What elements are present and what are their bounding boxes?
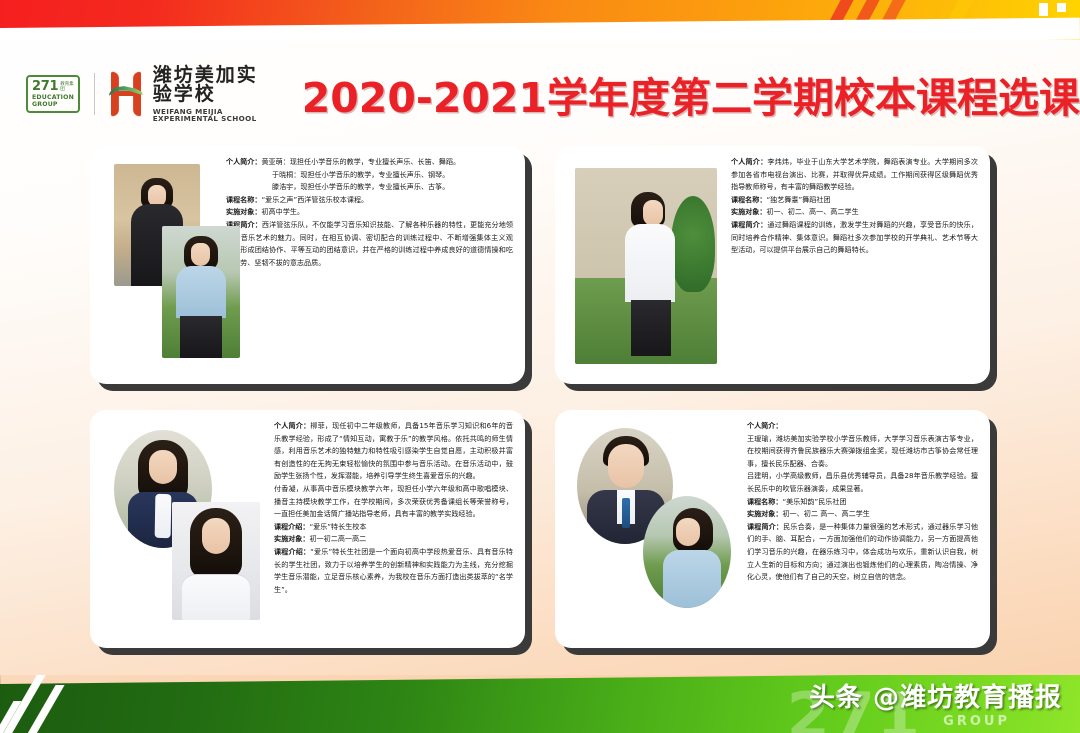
card-1-text: 个人简介：黄亚萌：现担任小学音乐的教学，专业擅长声乐、长笛、舞蹈。 于晓桐：现担…: [220, 156, 513, 374]
poster-header: 271 教育集团 EDUCATION GROUP 潍坊美加实验学校 WEIFAN…: [0, 58, 1080, 130]
card-3-course-name-value: “爱乐”特长生校本: [309, 522, 366, 531]
card-2-course-name-value: “独艺舞耋”舞蹈社团: [766, 195, 830, 204]
card-1-course-name-row: 课程名称：“爱乐之声”西洋管弦乐校本课程。: [226, 194, 513, 207]
logo-271-education-group: 271 教育集团 EDUCATION GROUP: [26, 75, 80, 113]
card-1-audience-label: 实施对象：: [226, 207, 261, 216]
card-1-audience-value: 初高中学生。: [261, 207, 304, 216]
watermark-account-name: 头条 @潍坊教育播报: [809, 677, 1062, 714]
teacher-photo-student-garden-oval: [643, 496, 731, 608]
card-3-course-intro-value: “爱乐”特长生社团是一个面向初高中学段热爱音乐、具有音乐特长的学生社团，致力于以…: [274, 547, 513, 594]
card-1-profile-line-3: 滕浩宇，现担任小学音乐的教学，专业擅长声乐、古筝。: [226, 181, 513, 194]
card-3-course-name-row: 课程介绍：“爱乐”特长生校本: [274, 521, 513, 534]
card-1-course-name-label: 课程名称：: [226, 195, 261, 204]
teacher-photo-white-collar: [172, 502, 260, 620]
card-2-course-intro-row: 课程简介：通过舞蹈课程的训练，激发学生对舞蹈的兴趣，享受音乐的快乐，同时培养合作…: [731, 219, 978, 257]
logo-271-line3: GROUP: [32, 102, 58, 108]
card-1-course-name-value: “爱乐之声”西洋管弦乐校本课程。: [261, 195, 368, 204]
teacher-photo-white-shirt-garden: [575, 168, 717, 364]
teacher-photo-blue-shirt: [162, 226, 240, 358]
card-4-course-intro-label: 课程简介：: [747, 522, 783, 531]
square-accent-b: [1057, 3, 1066, 12]
card-4-audience-value: 初一、初二 高一、高二学生: [782, 509, 869, 518]
card-3-audience-row: 实施对象：初一初二高一高二: [274, 533, 513, 546]
card-1-course-intro-row: 课程简介：西洋管弦乐队，不仅能学习音乐知识技能、了解各种乐器的特性，更能充分地领…: [226, 219, 513, 269]
bottom-decorative-banner: 271 GROUP 头条 @潍坊教育播报: [0, 675, 1080, 733]
card-4-photos: [565, 420, 741, 638]
top-banner-slant-edge: [0, 18, 1080, 40]
card-4-profile-row-1: 王瑷瑜，潍坊美加实验学校小学音乐教师，大学学习音乐表演古筝专业，在校期间获得齐鲁…: [747, 433, 978, 471]
card-2-audience-value: 初一、初二、高一、高二学生: [766, 207, 858, 216]
card-2-course-name-label: 课程名称：: [731, 195, 766, 204]
card-4-course-intro-row: 课程简介：民乐合奏，是一种集体力量很强的艺术形式，通过器乐学习他们的手、脑、耳配…: [747, 521, 978, 584]
card-2-audience-label: 实施对象：: [731, 207, 766, 216]
card-1-course-intro-value: 西洋管弦乐队，不仅能学习音乐知识技能、了解各种乐器的特性，更能充分地领略到音乐艺…: [226, 220, 513, 267]
card-1-profile-line-1: 个人简介：黄亚萌：现担任小学音乐的教学，专业擅长声乐、长笛、舞蹈。: [226, 156, 513, 169]
school-name-en: WEIFANG MEIJIA EXPERIMENTAL SCHOOL: [153, 108, 276, 122]
card-3-audience-value: 初一初二高一高二: [309, 534, 366, 543]
card-2-text: 个人简介：李炜炜，毕业于山东大学艺术学院，舞蹈表演专业。大学期间多次参加各省市电…: [725, 156, 978, 374]
school-emblem-icon: [109, 72, 143, 116]
logo-271-number: 271: [32, 80, 58, 93]
school-identity: 潍坊美加实验学校 WEIFANG MEIJIA EXPERIMENTAL SCH…: [153, 66, 276, 122]
card-2-course-intro-value: 通过舞蹈课程的训练，激发学生对舞蹈的兴趣，享受音乐的快乐，同时培养合作精神、集体…: [731, 220, 978, 254]
poster-page: 271 教育集团 EDUCATION GROUP 潍坊美加实验学校 WEIFAN…: [0, 0, 1080, 733]
card-3-course-intro-label: 课程介绍：: [274, 547, 310, 556]
card-4-course-name-value: “美乐知韵”民乐社团: [782, 497, 846, 506]
card-3-audience-label: 实施对象：: [274, 534, 309, 543]
course-card-grid: 个人简介：黄亚萌：现担任小学音乐的教学，专业擅长声乐、长笛、舞蹈。 于晓桐：现担…: [90, 146, 990, 648]
card-4-profile-label-row: 个人简介：: [747, 420, 978, 433]
card-3-profile-row-2: 付香凝，从事高中音乐模块教学六年，现担任小学六年级和高中歌唱模块、播音主持模块教…: [274, 483, 513, 521]
course-card-folk-music[interactable]: 个人简介： 王瑷瑜，潍坊美加实验学校小学音乐教师，大学学习音乐表演古筝专业，在校…: [555, 410, 990, 648]
card-2-photos: [565, 156, 725, 374]
logo-271-number-cn: 教育集团: [60, 83, 74, 93]
card-4-course-name-label: 课程名称：: [747, 497, 782, 506]
bottom-banner-stripes: [0, 675, 180, 733]
card-2-profile-row: 个人简介：李炜炜，毕业于山东大学艺术学院，舞蹈表演专业。大学期间多次参加各省市电…: [731, 156, 978, 194]
card-4-audience-row: 实施对象：初一、初二 高一、高二学生: [747, 508, 978, 521]
course-card-music-talent[interactable]: 个人简介：柳菲，现任初中二年级教师，具备15年音乐学习知识和6年的音乐教学经验，…: [90, 410, 525, 648]
card-2-course-name-row: 课程名称：“独艺舞耋”舞蹈社团: [731, 194, 978, 207]
course-card-dance[interactable]: 个人简介：李炜炜，毕业于山东大学艺术学院，舞蹈表演专业。大学期间多次参加各省市电…: [555, 146, 990, 384]
card-3-profile-label: 个人简介：: [274, 421, 310, 430]
card-3-photos: [100, 420, 268, 638]
card-1-profile-line-2: 于晓桐：现担任小学音乐的教学，专业擅长声乐、钢琴。: [226, 169, 513, 182]
card-3-profile-value-1: 柳菲，现任初中二年级教师，具备15年音乐学习知识和6年的音乐教学经验，形成了“情…: [274, 421, 513, 480]
card-2-course-intro-label: 课程简介：: [731, 220, 767, 229]
card-1-profile-label: 个人简介：: [226, 157, 261, 166]
card-4-profile-row-2: 吕建明，小学高级教师，昌乐县优秀辅导员，具备28年音乐教学经验。擅长民乐中的吹管…: [747, 470, 978, 495]
card-2-audience-row: 实施对象：初一、初二、高一、高二学生: [731, 206, 978, 219]
card-2-profile-value: 李炜炜，毕业于山东大学艺术学院，舞蹈表演专业。大学期间多次参加各省市电视台演出、…: [731, 157, 978, 191]
header-divider: [94, 73, 95, 115]
card-3-profile-row-1: 个人简介：柳菲，现任初中二年级教师，具备15年音乐学习知识和6年的音乐教学经验，…: [274, 420, 513, 483]
card-1-audience-row: 实施对象：初高中学生。: [226, 206, 513, 219]
card-3-course-name-label: 课程介绍：: [274, 522, 309, 531]
top-decorative-banner: [0, 0, 1080, 40]
course-card-orchestra[interactable]: 个人简介：黄亚萌：现担任小学音乐的教学，专业擅长声乐、长笛、舞蹈。 于晓桐：现担…: [90, 146, 525, 384]
square-accent-a: [1039, 3, 1048, 16]
watermark-group: GROUP: [943, 714, 1010, 729]
school-name-cn: 潍坊美加实验学校: [153, 66, 276, 104]
card-2-profile-label: 个人简介：: [731, 157, 767, 166]
card-4-course-name-row: 课程名称：“美乐知韵”民乐社团: [747, 496, 978, 509]
logo-271-line2: EDUCATION: [32, 95, 74, 101]
card-4-profile-label: 个人简介：: [747, 421, 782, 430]
card-3-text: 个人简介：柳菲，现任初中二年级教师，具备15年音乐学习知识和6年的音乐教学经验，…: [268, 420, 513, 638]
card-4-audience-label: 实施对象：: [747, 509, 782, 518]
card-1-photos: [100, 156, 220, 374]
card-4-text: 个人简介： 王瑷瑜，潍坊美加实验学校小学音乐教师，大学学习音乐表演古筝专业，在校…: [741, 420, 978, 638]
card-3-course-intro-row: 课程介绍：“爱乐”特长生社团是一个面向初高中学段热爱音乐、具有音乐特长的学生社团…: [274, 546, 513, 596]
logo-271-line1: 271 教育集团: [32, 80, 74, 93]
page-title: 2020-2021学年度第二学期校本课程选课: [302, 64, 1080, 124]
